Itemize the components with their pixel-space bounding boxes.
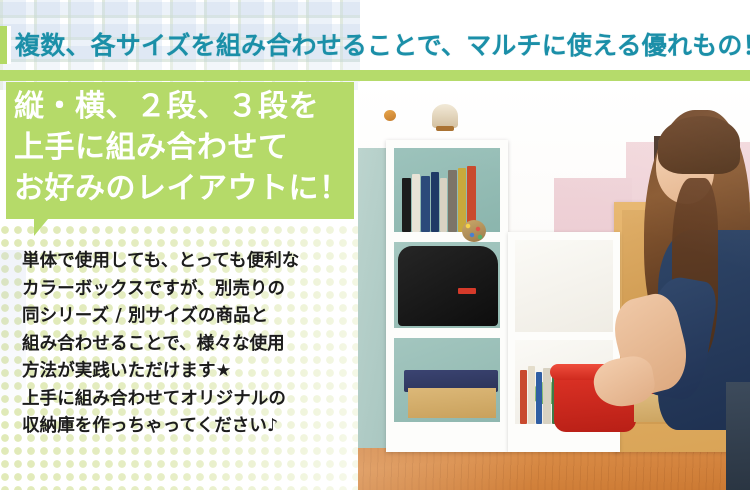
shelf-cavity-white-1: [515, 240, 613, 332]
body-paragraph: 単体で使用しても、とっても便利な カラーボックスですが、別売りの 同シリーズ /…: [22, 248, 362, 441]
decorative-ball: [462, 220, 486, 242]
model-legs: [726, 382, 750, 490]
body-line-2: カラーボックスですが、別売りの: [22, 276, 362, 304]
body-line-4: 組み合わせることで、様々な使用: [22, 331, 362, 359]
bag-logo-tag: [458, 288, 476, 294]
model-hair-front: [658, 116, 740, 174]
body-line-1: 単体で使用しても、とっても便利な: [22, 248, 362, 276]
callout-line-1: 縦・横、２段、３段を: [14, 90, 348, 131]
book: [536, 372, 542, 424]
body-line-6: 上手に組み合わせてオリジナルの: [22, 386, 362, 414]
callout-bubble: 縦・横、２段、３段を 上手に組み合わせて お好みのレイアウトに！: [6, 82, 354, 219]
book: [448, 170, 457, 232]
book: [421, 176, 430, 232]
book: [528, 366, 535, 424]
header: 複数、各サイズを組み合わせることで、マルチに使える優れもの！: [0, 24, 750, 66]
book: [440, 178, 447, 232]
header-accent-bar: [0, 26, 7, 64]
body-line-7: 収納庫を作っちゃってください♪: [22, 413, 362, 441]
book: [520, 370, 527, 424]
product-photo: [358, 82, 750, 490]
advertisement-banner: 複数、各サイズを組み合わせることで、マルチに使える優れもの！ 縦・横、２段、３段…: [0, 0, 750, 490]
book: [543, 368, 551, 424]
callout-line-3: お好みのレイアウトに！: [14, 172, 348, 213]
knickknack-ornament: [384, 110, 396, 121]
book: [402, 178, 411, 232]
black-bag: [398, 246, 498, 326]
body-line-3: 同シリーズ / 別サイズの商品と: [22, 303, 362, 331]
body-line-5: 方法が実践いただけます★: [22, 358, 362, 386]
header-divider-rule: [0, 70, 750, 81]
callout-line-2: 上手に組み合わせて: [14, 131, 348, 172]
table-lamp-base: [436, 126, 454, 131]
header-title: 複数、各サイズを組み合わせることで、マルチに使える優れもの！: [11, 33, 750, 58]
book: [412, 174, 420, 232]
callout-text: 縦・横、２段、３段を 上手に組み合わせて お好みのレイアウトに！: [14, 90, 348, 213]
book: [431, 172, 439, 232]
storage-box-tan-base: [408, 388, 496, 418]
callout-bubble-tail: [34, 219, 60, 236]
table-lamp: [432, 104, 458, 128]
